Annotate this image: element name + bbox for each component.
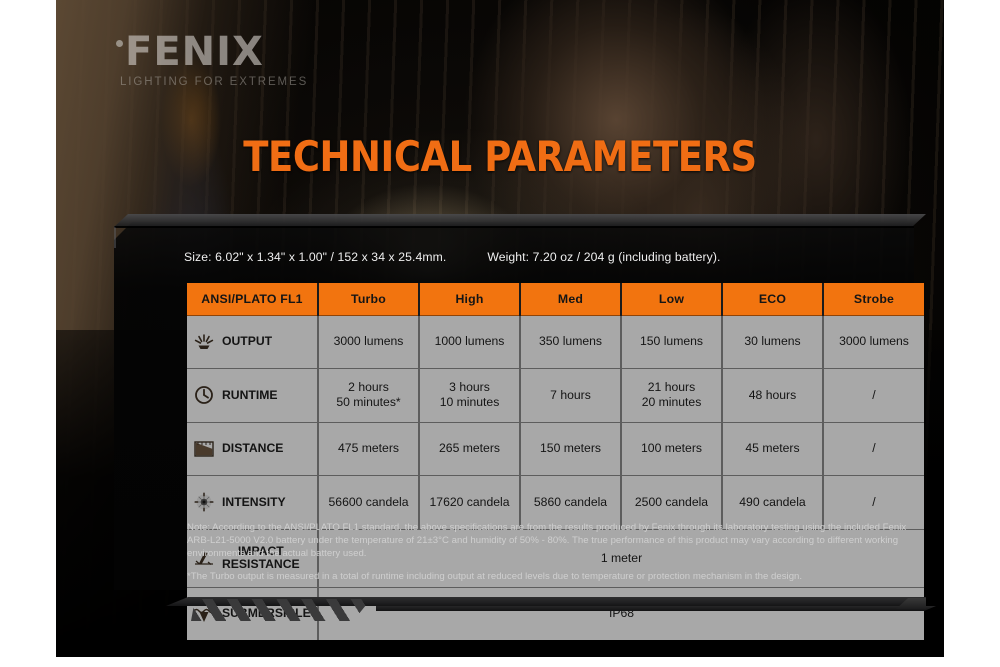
cell-runtime-turbo: 2 hours 50 minutes* [318, 369, 419, 423]
cell-output-med: 350 lumens [520, 315, 621, 369]
cell-output-turbo: 3000 lumens [318, 315, 419, 369]
logo-text: FENIX [125, 32, 264, 72]
cell-output-eco: 30 lumens [722, 315, 823, 369]
logo-tagline: LIGHTING FOR EXTREMES [120, 76, 356, 88]
row-header-output: OUTPUT [187, 315, 318, 369]
row-header-runtime: RUNTIME [187, 369, 318, 423]
cell-runtime-strobe: / [823, 369, 924, 423]
cell-distance-eco: 45 meters [722, 422, 823, 476]
footnote-note: Note: According to the ANSI/PLATO FL1 st… [187, 521, 923, 561]
row-label-output: OUTPUT [222, 335, 272, 348]
row-header-distance: DISTANCE [187, 422, 318, 476]
logo-dot-icon [116, 40, 123, 47]
distance-ruler-icon [191, 438, 217, 460]
column-header-strobe: Strobe [823, 283, 924, 315]
page-root: FENIX LIGHTING FOR EXTREMES TECHNICAL PA… [0, 0, 1000, 667]
cell-distance-med: 150 meters [520, 422, 621, 476]
cell-distance-low: 100 meters [621, 422, 722, 476]
crosshair-target-icon [191, 491, 217, 513]
weight-label: Weight: 7.20 oz / 204 g (including batte… [487, 250, 720, 264]
column-header-turbo: Turbo [318, 283, 419, 315]
column-header-med: Med [520, 283, 621, 315]
cell-distance-turbo: 475 meters [318, 422, 419, 476]
bottom-decoration [56, 579, 944, 657]
spec-panel-corner-bracket [114, 226, 136, 248]
hero-banner: FENIX LIGHTING FOR EXTREMES TECHNICAL PA… [56, 0, 944, 657]
logo-wordmark: FENIX [116, 32, 356, 72]
fenix-logo: FENIX LIGHTING FOR EXTREMES [116, 32, 356, 88]
deco-rail-secondary [376, 606, 936, 611]
table-row: OUTPUT 3000 lumens 1000 lumens 350 lumen… [187, 315, 924, 369]
cell-runtime-eco: 48 hours [722, 369, 823, 423]
spec-table-header-row: ANSI/PLATO FL1 Turbo High Med Low ECO St… [187, 283, 924, 315]
column-header-high: High [419, 283, 520, 315]
row-label-intensity: INTENSITY [222, 496, 286, 509]
cell-distance-high: 265 meters [419, 422, 520, 476]
footnote-block: Note: According to the ANSI/PLATO FL1 st… [187, 521, 923, 583]
spec-panel-edge [114, 226, 914, 228]
cell-output-high: 1000 lumens [419, 315, 520, 369]
size-label: Size: 6.02" x 1.34" x 1.00" / 152 x 34 x… [184, 250, 446, 264]
cell-runtime-high: 3 hours 10 minutes [419, 369, 520, 423]
row-label-runtime: RUNTIME [222, 389, 278, 402]
clock-icon [191, 384, 217, 406]
cell-output-low: 150 lumens [621, 315, 722, 369]
column-header-eco: ECO [722, 283, 823, 315]
cell-output-strobe: 3000 lumens [823, 315, 924, 369]
cell-runtime-med: 7 hours [520, 369, 621, 423]
cell-distance-strobe: / [823, 422, 924, 476]
cell-runtime-low: 21 hours 20 minutes [621, 369, 722, 423]
deco-hazard-stripes [191, 599, 371, 621]
column-header-ansi: ANSI/PLATO FL1 [187, 283, 318, 315]
dimensions-line: Size: 6.02" x 1.34" x 1.00" / 152 x 34 x… [184, 250, 721, 264]
table-row: DISTANCE 475 meters 265 meters 150 meter… [187, 422, 924, 476]
light-burst-icon [191, 331, 217, 353]
column-header-low: Low [621, 283, 722, 315]
page-title: TECHNICAL PARAMETERS [109, 132, 890, 181]
row-label-distance: DISTANCE [222, 442, 283, 455]
table-row: RUNTIME 2 hours 50 minutes* 3 hours 10 m… [187, 369, 924, 423]
